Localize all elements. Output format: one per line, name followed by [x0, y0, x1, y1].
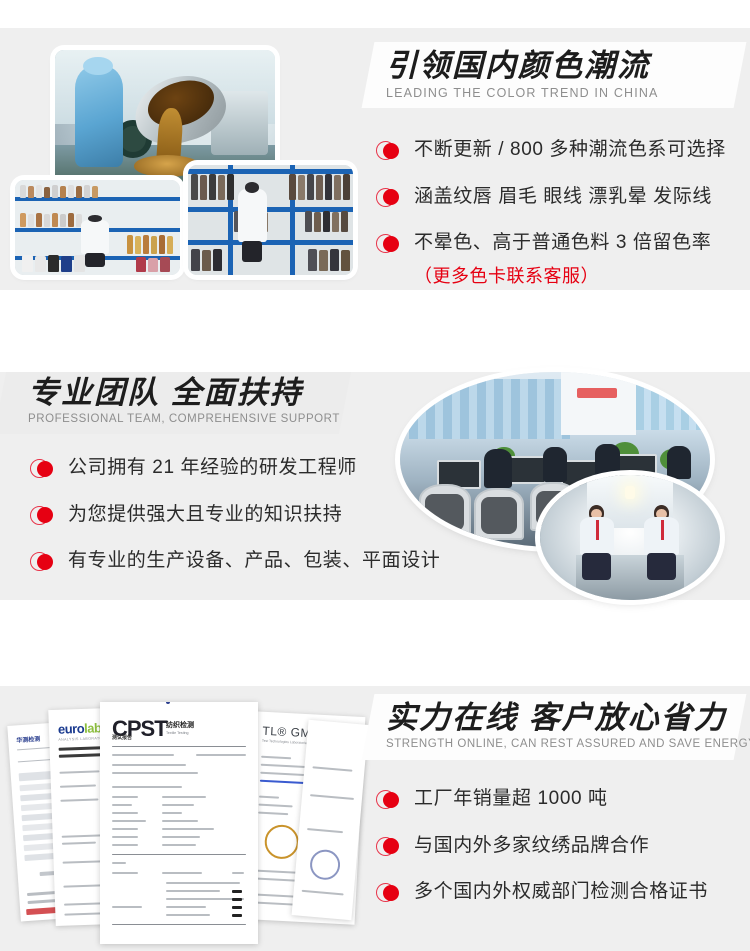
warehouse-shelf-photo — [188, 165, 353, 275]
cert-cpst-subtitle-en: Textile Testing — [166, 731, 189, 735]
section-1-heading-cn: 引领国内颜色潮流 — [386, 48, 740, 85]
cert-cpst-seal — [166, 702, 170, 704]
section-1-heading-en: LEADING THE COLOR TREND IN CHINA — [386, 86, 740, 100]
section-1-heading: 引领国内颜色潮流 LEADING THE COLOR TREND IN CHIN… — [368, 42, 740, 108]
bullet-text: 不晕色、高于普通色料 3 倍留色率 — [414, 232, 711, 253]
list-item: 不晕色、高于普通色料 3 倍留色率 （更多色卡联系客服） — [376, 230, 726, 288]
bullet-text: 涵盖纹唇 眉毛 眼线 漂乳晕 发际线 — [414, 184, 712, 210]
red-dot-bullet-icon — [376, 234, 403, 253]
pigment-shelf-photo — [15, 180, 180, 275]
bullet-text: 为您提供强大且专业的知识扶持 — [68, 502, 342, 528]
red-dot-bullet-icon — [30, 552, 57, 571]
cleanroom-staff-photo — [540, 475, 720, 600]
list-item: 有专业的生产设备、产品、包装、平面设计 — [30, 548, 440, 574]
list-item: 为您提供强大且专业的知识扶持 — [30, 502, 440, 528]
bullet-text: 多个国内外权威部门检测合格证书 — [414, 879, 708, 905]
section-2-heading-en: PROFESSIONAL TEAM, COMPREHENSIVE SUPPORT — [28, 413, 345, 425]
section-2-bullet-list: 公司拥有 21 年经验的研发工程师 为您提供强大且专业的知识扶持 有专业的生产设… — [30, 455, 440, 595]
bullet-text: 有专业的生产设备、产品、包装、平面设计 — [68, 548, 440, 574]
cert-eurolab-title-2: lab — [84, 720, 102, 736]
section-3-heading-en: STRENGTH ONLINE, CAN REST ASSURED AND SA… — [386, 738, 740, 750]
cert-cpst-subtitle-cn: 纺织检测 — [166, 720, 194, 730]
list-item: 涵盖纹唇 眉毛 眼线 漂乳晕 发际线 — [376, 184, 726, 210]
section-2-heading: 专业团队 全面扶持 PROFESSIONAL TEAM, COMPREHENSI… — [0, 372, 345, 434]
section-3-bullet-list: 工厂年销量超 1000 吨 与国内外多家纹绣品牌合作 多个国内外权威部门检测合格… — [376, 786, 708, 926]
certificate-stack: 华测检测 eurolab ANALYSIS LABORATORY — [0, 686, 360, 951]
bullet-text: 不断更新 / 800 多种潮流色系可选择 — [414, 137, 726, 163]
cert-huace-title: 华测检测 — [16, 734, 41, 745]
product-detail-page: 引领国内颜色潮流 LEADING THE COLOR TREND IN CHIN… — [0, 0, 750, 951]
bullet-text: 与国内外多家纹绣品牌合作 — [414, 833, 649, 859]
cert-generic-seal — [309, 848, 342, 881]
red-dot-bullet-icon — [376, 790, 403, 809]
red-dot-bullet-icon — [376, 883, 403, 902]
list-item: 公司拥有 21 年经验的研发工程师 — [30, 455, 440, 481]
red-dot-bullet-icon — [376, 837, 403, 856]
red-dot-bullet-icon — [376, 188, 403, 207]
red-dot-bullet-icon — [376, 141, 403, 160]
bullet-note: （更多色卡联系客服） — [414, 262, 711, 288]
cert-tl-gmbh-seal — [264, 824, 300, 860]
cert-cpst: CPST 纺织检测 Textile Testing 测试报告 — [100, 702, 258, 944]
list-item: 与国内外多家纹绣品牌合作 — [376, 833, 708, 859]
list-item: 不断更新 / 800 多种潮流色系可选择 — [376, 137, 726, 163]
bullet-text: 公司拥有 21 年经验的研发工程师 — [68, 455, 357, 481]
section-1-bullet-list: 不断更新 / 800 多种潮流色系可选择 涵盖纹唇 眉毛 眼线 漂乳晕 发际线 … — [376, 137, 726, 309]
red-dot-bullet-icon — [30, 506, 57, 525]
list-item: 多个国内外权威部门检测合格证书 — [376, 879, 708, 905]
section-2-heading-cn: 专业团队 全面扶持 — [28, 375, 345, 412]
section-3-heading: 实力在线 客户放心省力 STRENGTH ONLINE, CAN REST AS… — [368, 694, 740, 760]
list-item: 工厂年销量超 1000 吨 — [376, 786, 708, 812]
red-dot-bullet-icon — [30, 459, 57, 478]
section-3-heading-cn: 实力在线 客户放心省力 — [386, 700, 740, 737]
bullet-text: 工厂年销量超 1000 吨 — [414, 786, 608, 812]
cert-eurolab-title-1: euro — [58, 721, 85, 737]
